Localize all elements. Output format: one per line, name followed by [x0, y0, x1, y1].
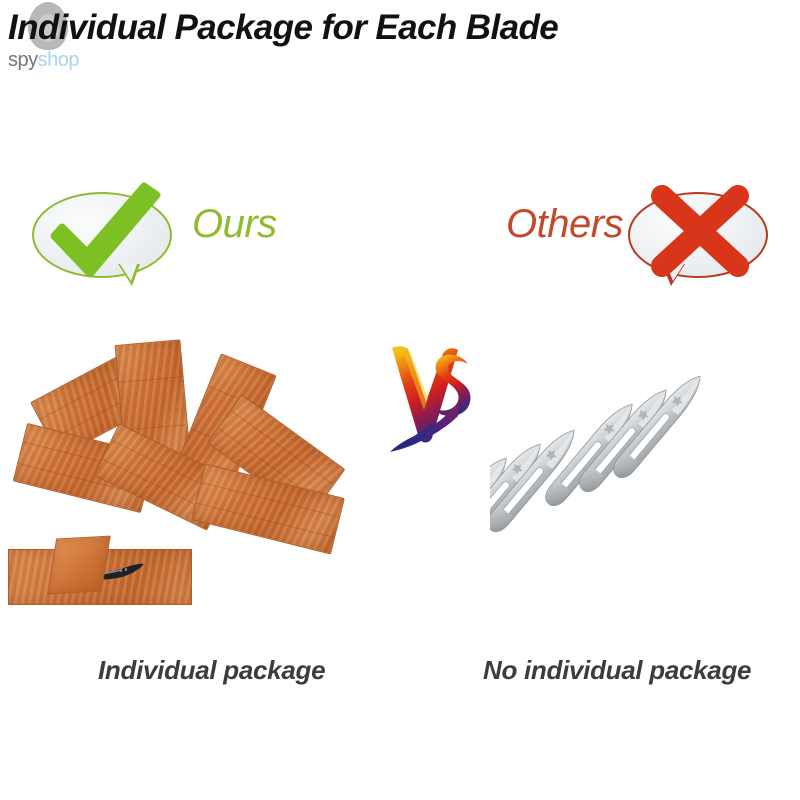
page-title: Individual Package for Each Blade: [8, 8, 792, 48]
verdict-ours: Ours: [24, 182, 314, 302]
caption-no-individual-package: No individual package: [483, 655, 751, 686]
watermark-text-primary: spy: [8, 49, 38, 71]
verdict-others: Others: [500, 182, 790, 302]
watermark-text-secondary: shop: [38, 49, 79, 71]
check-icon: [32, 178, 182, 288]
verdict-label-others: Others: [506, 204, 623, 244]
red-cross-bubble-icon: [628, 192, 768, 288]
opened-package-with-blade: [8, 537, 190, 609]
photo-bare-blades: [490, 355, 780, 585]
photo-individual-packages: [0, 330, 380, 630]
watermark-text: spyshop: [8, 50, 79, 70]
cross-icon: [628, 178, 778, 288]
caption-individual-package: Individual package: [98, 655, 325, 686]
package-flap: [47, 536, 110, 595]
vs-versus-icon: [382, 340, 482, 470]
verdict-label-ours: Ours: [192, 204, 277, 244]
green-check-bubble-icon: [32, 192, 172, 288]
